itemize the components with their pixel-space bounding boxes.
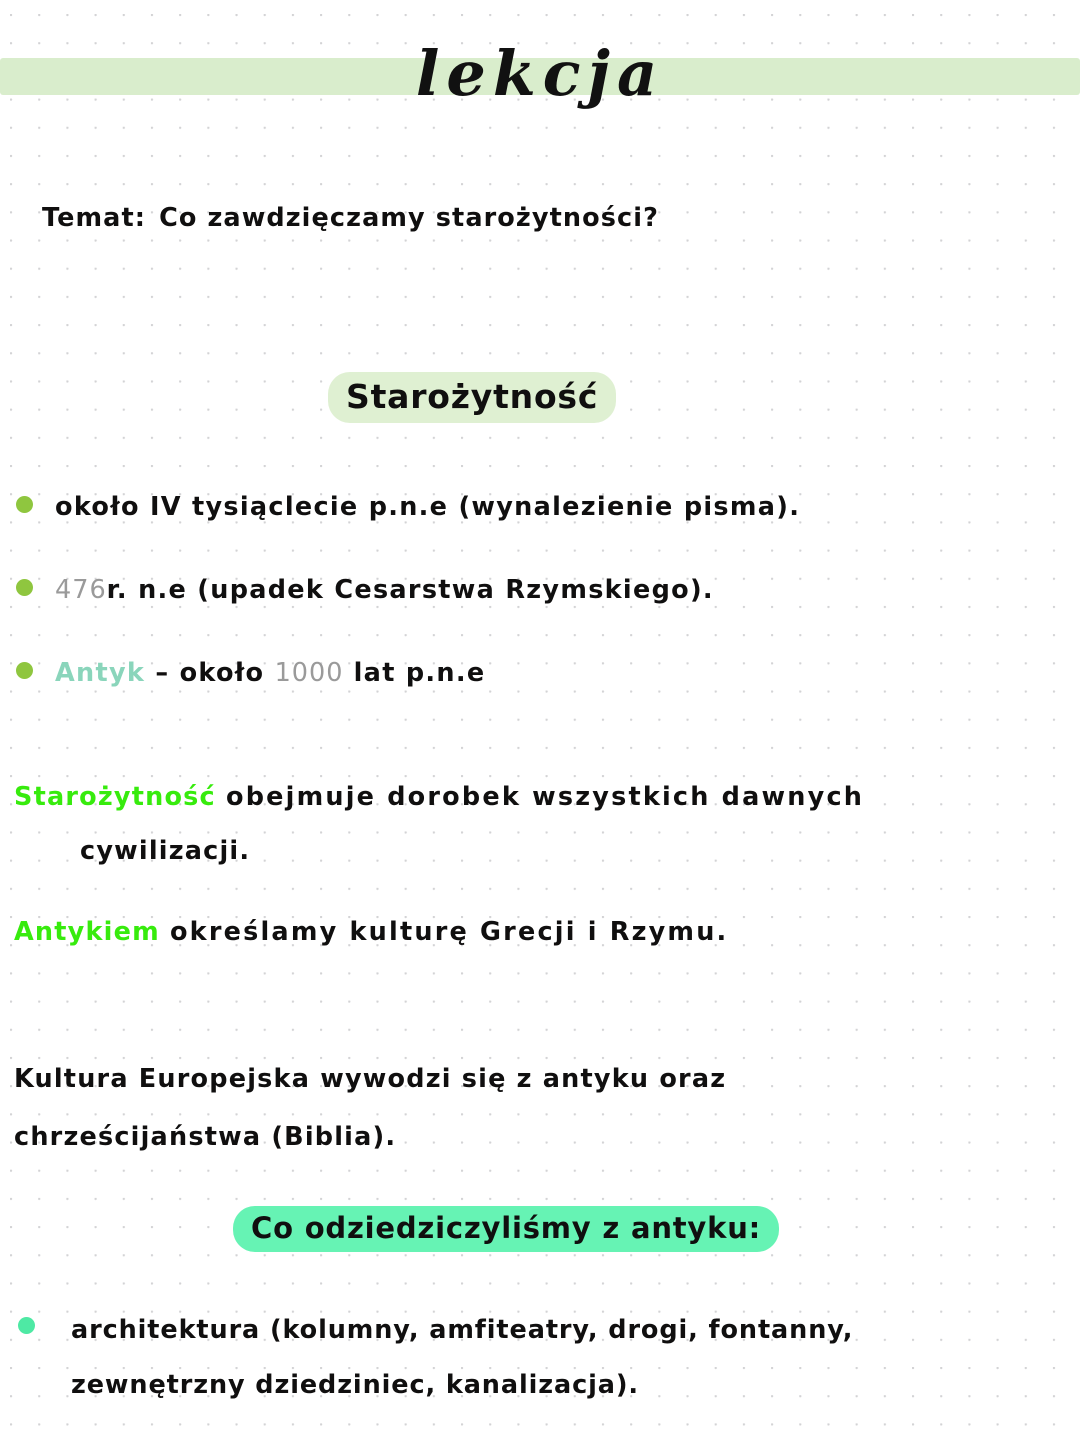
topic-text: Co zawdzięczamy starożytności? xyxy=(159,203,659,233)
page-title: lekcja xyxy=(416,22,664,126)
list-item: około IV tysiąclecie p.n.e (wynalezienie… xyxy=(16,487,800,527)
bullet-dot-icon xyxy=(16,579,33,596)
list-item: 476r. n.e (upadek Cesarstwa Rzymskiego). xyxy=(16,570,714,610)
term-antyk: Antyk xyxy=(55,658,145,688)
paragraph-kultura-europejska: Kultura Europejska wywodzi się z antyku … xyxy=(14,1050,894,1166)
page-title-container: lekcja xyxy=(0,22,1080,126)
year-number: 1000 xyxy=(275,658,344,688)
bullet-dot-icon xyxy=(16,496,33,513)
list-item: architektura (kolumny, amfiteatry, drogi… xyxy=(18,1303,853,1413)
year-number: 476 xyxy=(55,575,107,605)
list-item-label: Antyk – około 1000 lat p.n.e xyxy=(55,653,485,693)
topic-line: Temat: Co zawdzięczamy starożytności? xyxy=(42,203,659,233)
list-item-label: około IV tysiąclecie p.n.e (wynalezienie… xyxy=(55,487,800,527)
definition-continuation: cywilizacji. xyxy=(80,824,250,878)
list-item-label: 476r. n.e (upadek Cesarstwa Rzymskiego). xyxy=(55,570,714,610)
list-item-line-1: architektura (kolumny, amfiteatry, drogi… xyxy=(71,1315,853,1345)
list-item-line-2: zewnętrzny dziedziniec, kanalizacja). xyxy=(71,1370,639,1400)
definition-antykiem: Antykiem określamy kulturę Grecji i Rzym… xyxy=(14,905,728,959)
section-heading-starozytnosc: Starożytność xyxy=(328,372,616,423)
definition-term: Starożytność xyxy=(14,782,216,812)
list-item-label: architektura (kolumny, amfiteatry, drogi… xyxy=(71,1303,853,1413)
definition-term: Antykiem xyxy=(14,917,160,947)
list-item-text-a: – około xyxy=(145,658,274,688)
definition-body: określamy kulturę Grecji i Rzymu. xyxy=(170,917,729,947)
list-item: Antyk – około 1000 lat p.n.e xyxy=(16,653,485,693)
list-item-text: r. n.e (upadek Cesarstwa Rzymskiego). xyxy=(107,575,714,605)
paragraph-line-2: chrześcijaństwa (Biblia). xyxy=(14,1122,396,1152)
topic-label: Temat: xyxy=(42,203,146,233)
section-heading-co-odziedziczylismy: Co odziedziczyliśmy z antyku: xyxy=(233,1206,779,1252)
bullet-dot-icon xyxy=(18,1317,35,1334)
definition-body: obejmuje dorobek wszystkich dawnych xyxy=(226,782,864,812)
definition-starozytnosc: Starożytność obejmuje dorobek wszystkich… xyxy=(14,770,974,878)
notes-page: lekcja Temat: Co zawdzięczamy starożytno… xyxy=(0,0,1080,1439)
paragraph-line-1: Kultura Europejska wywodzi się z antyku … xyxy=(14,1064,726,1094)
bullet-dot-icon xyxy=(16,662,33,679)
list-item-text-b: lat p.n.e xyxy=(343,658,485,688)
list-item-text: około IV tysiąclecie p.n.e (wynalezienie… xyxy=(55,492,800,522)
